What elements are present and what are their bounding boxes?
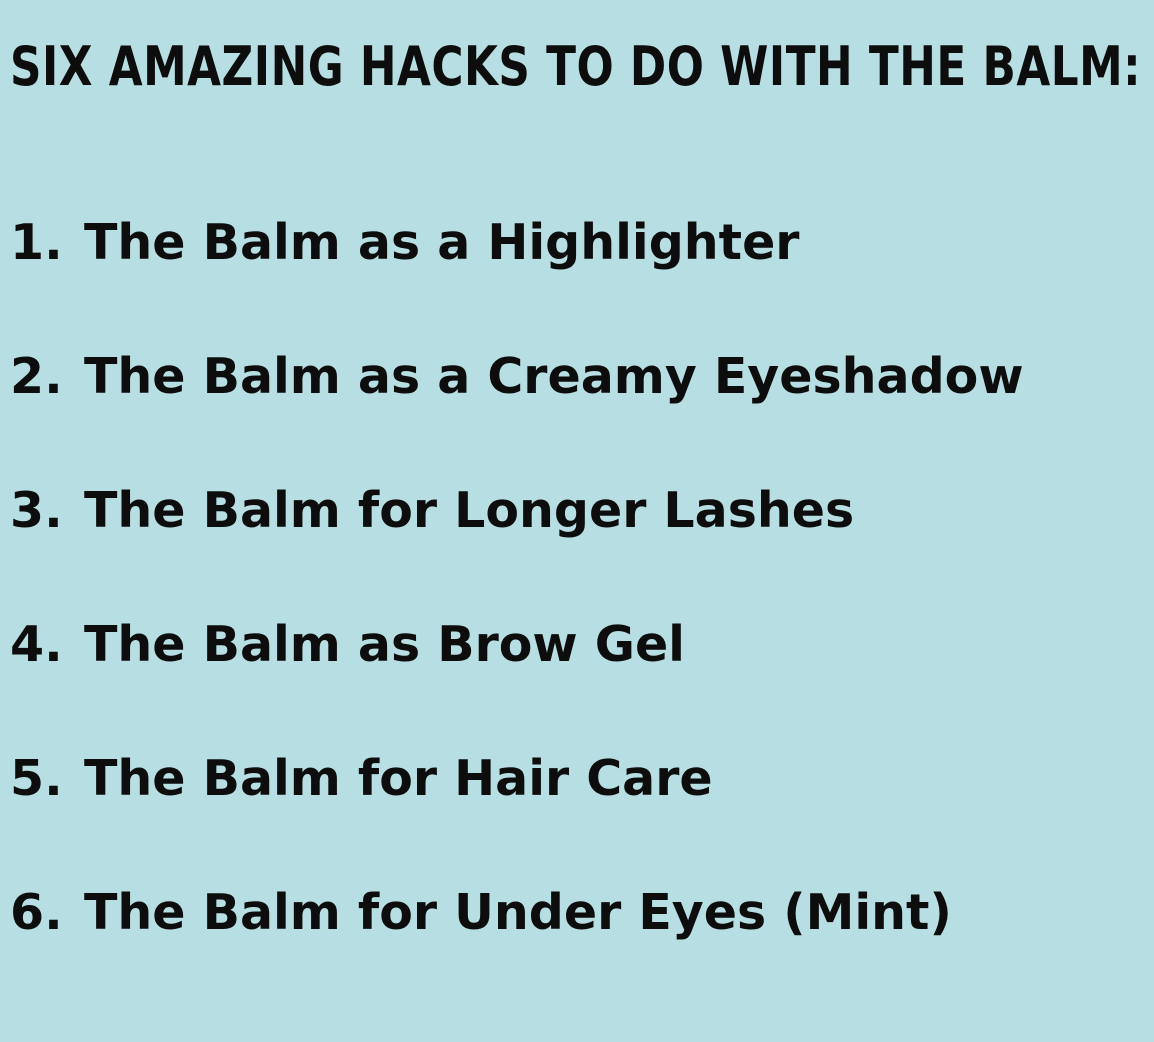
list-item-label: The Balm as a Highlighter	[84, 214, 799, 271]
list-item-number: 6.	[10, 882, 84, 944]
list-item: 1.The Balm as a Highlighter	[0, 212, 1154, 346]
list-item-label: The Balm for Hair Care	[84, 750, 713, 807]
list-item-label: The Balm as a Creamy Eyeshadow	[84, 348, 1024, 405]
list-item-number: 4.	[10, 614, 84, 676]
list-item: 4.The Balm as Brow Gel	[0, 614, 1154, 748]
list-item-number: 5.	[10, 748, 84, 810]
list-item-number: 3.	[10, 480, 84, 542]
page-title: SIX AMAZING HACKS TO DO WITH THE BALM:	[10, 36, 934, 98]
list-item: 3.The Balm for Longer Lashes	[0, 480, 1154, 614]
list-item-label: The Balm for Under Eyes (Mint)	[84, 884, 952, 941]
list-item: 5.The Balm for Hair Care	[0, 748, 1154, 882]
hacks-list: 1.The Balm as a Highlighter 2.The Balm a…	[0, 212, 1154, 1016]
list-item: 6.The Balm for Under Eyes (Mint)	[0, 882, 1154, 1016]
poster-canvas: SIX AMAZING HACKS TO DO WITH THE BALM: 1…	[0, 0, 1154, 1042]
list-item: 2.The Balm as a Creamy Eyeshadow	[0, 346, 1154, 480]
list-item-label: The Balm as Brow Gel	[84, 616, 685, 673]
list-item-number: 1.	[10, 212, 84, 274]
list-item-label: The Balm for Longer Lashes	[84, 482, 854, 539]
list-item-number: 2.	[10, 346, 84, 408]
